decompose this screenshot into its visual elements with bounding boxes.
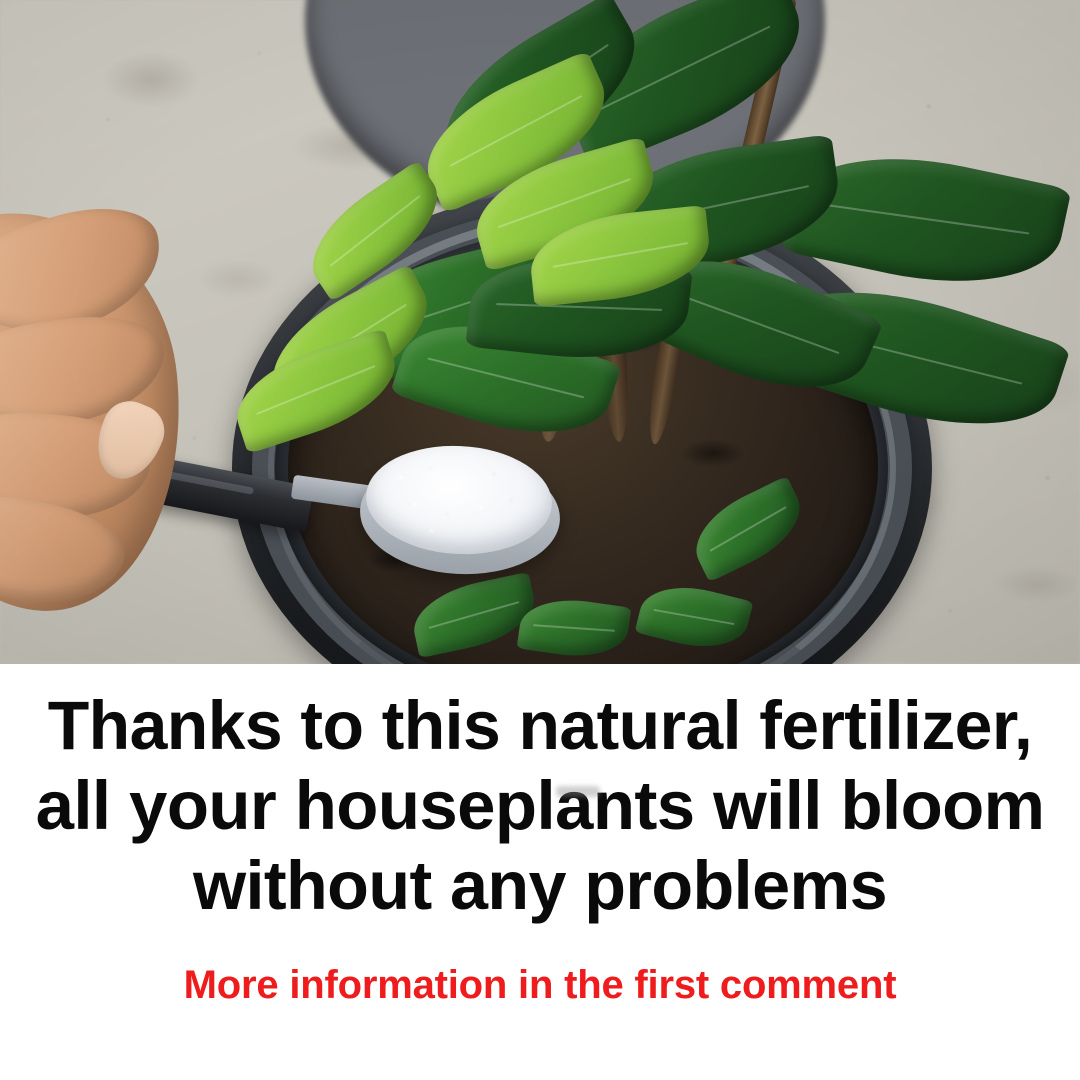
- headline-line-1: Thanks to this natural fertilizer,: [22, 686, 1058, 766]
- headline: Thanks to this natural fertilizer, all y…: [0, 686, 1080, 926]
- headline-line-3: without any problems: [19, 846, 1060, 926]
- image-artifact-smudge: [556, 786, 600, 797]
- headline-line-2: all your houseplants will bloom: [14, 766, 1066, 846]
- more-info-subline: More information in the first comment: [0, 962, 1080, 1008]
- social-post: Thanks to this natural fertilizer, all y…: [0, 0, 1080, 1080]
- hero-photo: [0, 0, 1080, 664]
- caption-block: Thanks to this natural fertilizer, all y…: [0, 664, 1080, 1080]
